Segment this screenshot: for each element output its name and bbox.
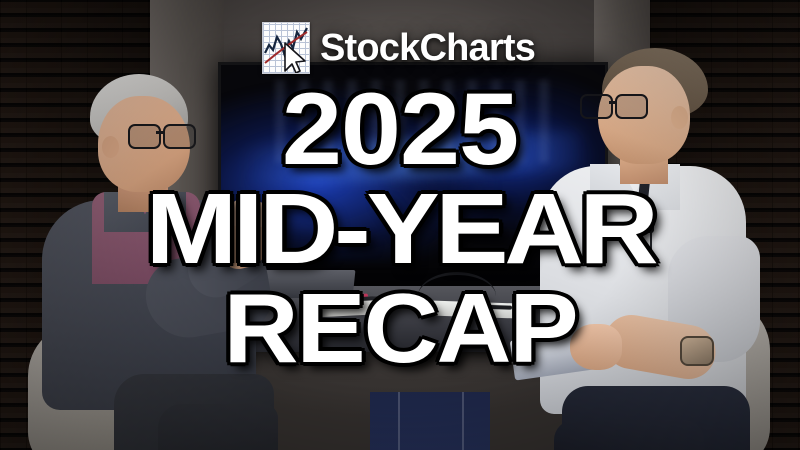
stockcharts-wordmark: StockCharts xyxy=(320,29,535,67)
thumbnail-stage: StockCharts 2025 MID-YEAR RECAP xyxy=(0,0,800,450)
laptop-prop xyxy=(257,270,356,298)
person-right-leg xyxy=(554,420,704,450)
person-left-finger xyxy=(244,198,254,226)
stockcharts-chart-cursor-icon xyxy=(262,22,310,74)
person-right xyxy=(514,48,764,450)
paper-stack-center xyxy=(432,301,516,319)
person-left-glasses xyxy=(128,124,192,145)
person-left-ear xyxy=(102,136,119,158)
blue-backdrop-panel xyxy=(370,392,490,450)
glasses-lens-left xyxy=(580,94,613,119)
person-left xyxy=(18,74,258,450)
panel-seam-right xyxy=(462,392,464,450)
person-right-glasses xyxy=(580,94,646,115)
person-right-hand xyxy=(570,324,622,370)
tv-scene-detail xyxy=(275,80,551,164)
lapel-mic-wire xyxy=(650,230,652,256)
glasses-lens-left xyxy=(128,124,161,149)
stockcharts-logo: StockCharts xyxy=(262,22,535,74)
glasses-lens-right xyxy=(615,94,648,119)
glasses-lens-right xyxy=(163,124,196,149)
person-right-ear xyxy=(671,106,688,129)
panel-seam-left xyxy=(398,392,400,450)
person-left-leg xyxy=(158,404,278,450)
wristwatch-icon xyxy=(680,336,714,366)
